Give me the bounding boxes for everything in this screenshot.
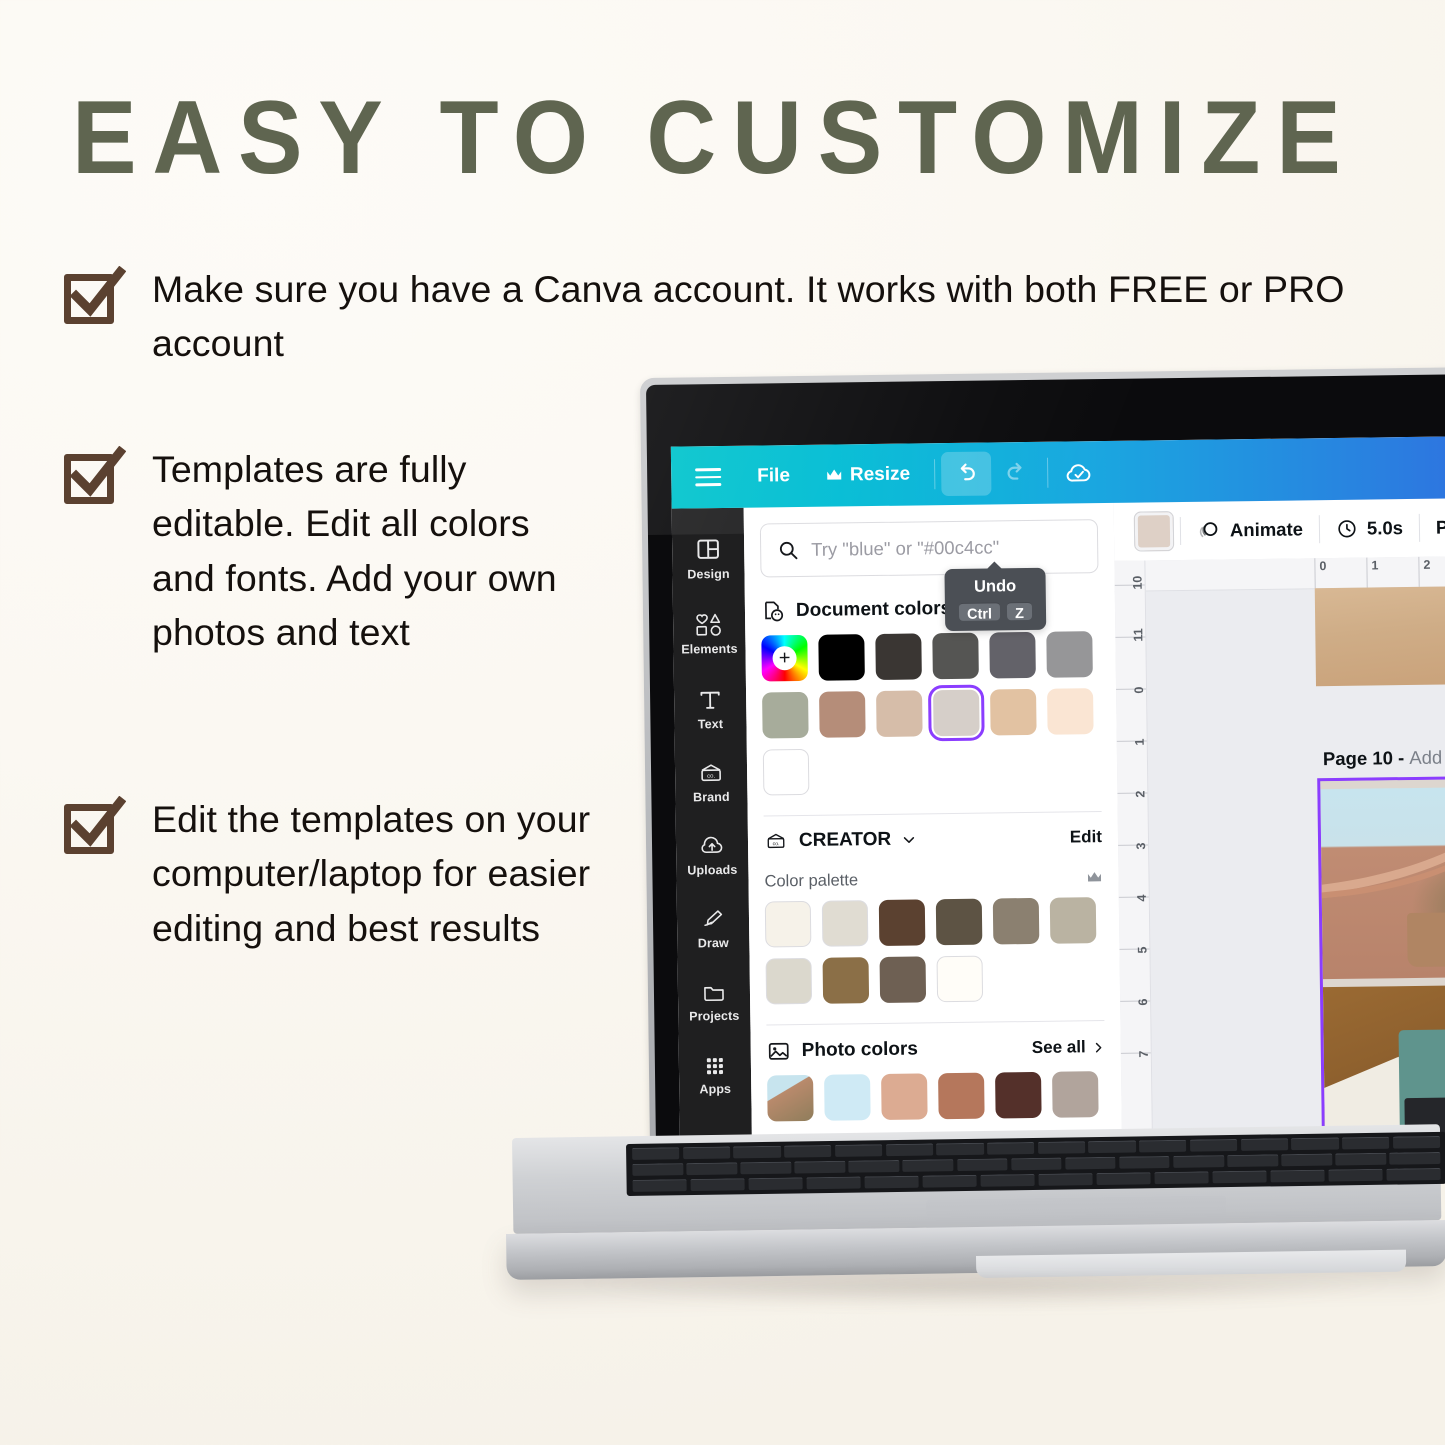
checkbox-checked-icon bbox=[64, 448, 126, 510]
ruler-tick: 3 bbox=[1118, 844, 1148, 846]
color-swatch[interactable] bbox=[1047, 688, 1094, 735]
grid-dots-icon bbox=[702, 1053, 728, 1077]
document-palette-icon bbox=[761, 599, 785, 623]
color-swatch[interactable] bbox=[881, 1073, 928, 1120]
image-icon bbox=[767, 1039, 791, 1063]
canvas-page[interactable] bbox=[1317, 775, 1445, 1139]
sidebar-item-brand[interactable]: co. Brand bbox=[675, 747, 748, 821]
document-colors-header: Document colors bbox=[745, 581, 1116, 634]
brand-kit-icon: co. bbox=[697, 761, 725, 785]
folder-icon bbox=[700, 980, 728, 1004]
svg-text:co.: co. bbox=[773, 841, 780, 847]
tooltip-key: Z bbox=[1007, 602, 1032, 620]
resize-button[interactable]: Resize bbox=[808, 452, 929, 498]
color-swatch[interactable] bbox=[875, 633, 922, 680]
color-swatch[interactable] bbox=[1046, 631, 1093, 678]
document-colors-title: Document colors bbox=[796, 598, 951, 622]
ruler-tick: 10 bbox=[1115, 584, 1145, 586]
clock-icon bbox=[1336, 518, 1358, 540]
color-swatch[interactable] bbox=[876, 690, 923, 737]
colors-panel: Try "blue" or "#00c4cc" Document colors … bbox=[744, 503, 1122, 1147]
ruler-tick: 2 bbox=[1117, 792, 1147, 794]
sidebar-item-design[interactable]: Design bbox=[672, 522, 745, 598]
photo-colors-title: Photo colors bbox=[802, 1038, 918, 1062]
color-swatch[interactable] bbox=[762, 692, 809, 739]
color-swatch[interactable] bbox=[765, 901, 812, 948]
position-label: Position bbox=[1436, 516, 1445, 539]
redo-arrow-icon bbox=[1003, 460, 1029, 486]
photo-hammock-plant[interactable] bbox=[1320, 786, 1445, 979]
sidebar-item-label: Elements bbox=[681, 642, 738, 657]
document-colors-swatches: + bbox=[745, 629, 1117, 802]
color-swatch[interactable] bbox=[990, 689, 1037, 736]
ruler-tick: 5 bbox=[1119, 948, 1149, 950]
color-swatch[interactable] bbox=[822, 900, 869, 947]
crown-icon bbox=[826, 468, 842, 482]
file-label: File bbox=[757, 454, 790, 498]
ruler-tick: 2 bbox=[1418, 557, 1430, 587]
duration-label: 5.0s bbox=[1367, 517, 1403, 539]
chevron-right-icon bbox=[1092, 1041, 1105, 1054]
color-swatch[interactable] bbox=[1052, 1071, 1099, 1118]
add-color-button[interactable]: + bbox=[761, 635, 808, 682]
canva-editor: File Resize bbox=[671, 430, 1445, 1148]
sidebar-item-apps[interactable]: Apps bbox=[679, 1039, 752, 1113]
brand-edit-button[interactable]: Edit bbox=[1070, 827, 1102, 847]
search-placeholder: Try "blue" or "#00c4cc" bbox=[811, 536, 999, 560]
page-title-placeholder: Add page title bbox=[1409, 746, 1445, 768]
photo-thumbnail[interactable] bbox=[767, 1075, 814, 1122]
plus-icon: + bbox=[772, 646, 796, 670]
file-menu-button[interactable]: File bbox=[739, 454, 808, 499]
color-swatch[interactable] bbox=[823, 957, 870, 1004]
color-palette-label-row: Color palette bbox=[748, 858, 1118, 900]
search-icon bbox=[777, 539, 799, 561]
color-swatch[interactable] bbox=[936, 899, 983, 946]
color-palette-label: Color palette bbox=[764, 871, 858, 891]
color-swatch[interactable] bbox=[932, 633, 979, 680]
canvas-toolbar: Animate 5.0s Position bbox=[1114, 492, 1445, 562]
brand-kit-icon: co. bbox=[764, 830, 788, 852]
laptop-lid: File Resize bbox=[640, 361, 1445, 1148]
ruler-tick: 1 bbox=[1366, 557, 1378, 587]
vertical-ruler[interactable]: 10 11 0 1 2 3 4 5 6 7 bbox=[1114, 560, 1153, 1141]
shapes-icon bbox=[694, 611, 724, 637]
canva-canvas-area: Animate 5.0s Position bbox=[1114, 492, 1445, 1142]
color-swatch-selected[interactable] bbox=[933, 690, 980, 737]
photo-colors-swatches bbox=[751, 1069, 1122, 1128]
color-swatch[interactable] bbox=[818, 634, 865, 681]
feature-bullet: Make sure you have a Canva account. It w… bbox=[64, 262, 1409, 371]
redo-button[interactable] bbox=[991, 451, 1042, 496]
page-separator: - bbox=[1398, 747, 1404, 768]
upload-cloud-icon bbox=[698, 834, 726, 858]
selected-color-button[interactable] bbox=[1134, 511, 1175, 552]
animate-icon bbox=[1197, 518, 1221, 542]
photo-typewriter[interactable] bbox=[1323, 984, 1445, 1139]
divider bbox=[1047, 458, 1048, 488]
sidebar-item-uploads[interactable]: Uploads bbox=[676, 820, 749, 894]
color-swatch[interactable] bbox=[937, 956, 984, 1003]
color-swatch[interactable] bbox=[938, 1073, 985, 1120]
ruler-tick: 1 bbox=[1117, 740, 1147, 742]
sidebar-item-projects[interactable]: Projects bbox=[678, 966, 751, 1040]
resize-label: Resize bbox=[850, 453, 911, 498]
position-button[interactable]: Position bbox=[1420, 515, 1445, 538]
pen-draw-icon bbox=[699, 907, 727, 931]
sidebar-item-label: Draw bbox=[698, 936, 729, 950]
photo-colors-header: Photo colors See all bbox=[750, 1021, 1121, 1074]
duration-button[interactable]: 5.0s bbox=[1320, 517, 1419, 540]
color-swatch[interactable] bbox=[824, 1074, 871, 1121]
color-swatch[interactable] bbox=[995, 1072, 1042, 1119]
color-swatch[interactable] bbox=[763, 749, 810, 796]
sidebar-item-label: Design bbox=[687, 567, 729, 582]
color-swatch[interactable] bbox=[880, 956, 927, 1003]
undo-arrow-icon bbox=[953, 461, 979, 487]
undo-button[interactable] bbox=[941, 451, 992, 496]
bullet-text: Make sure you have a Canva account. It w… bbox=[152, 262, 1402, 371]
animate-button[interactable]: Animate bbox=[1181, 517, 1319, 543]
brand-kit-header: co. CREATOR Edit bbox=[748, 812, 1119, 863]
color-swatch[interactable] bbox=[766, 958, 813, 1005]
sidebar-item-label: Brand bbox=[693, 790, 730, 804]
canva-topbar: File Resize bbox=[671, 430, 1445, 509]
ruler-tick: 7 bbox=[1121, 1052, 1151, 1054]
svg-text:co.: co. bbox=[707, 774, 715, 780]
tooltip-key: Ctrl bbox=[959, 602, 1000, 621]
sidebar-item-label: Text bbox=[698, 717, 723, 731]
divider bbox=[934, 459, 935, 489]
ruler-tick: 0 bbox=[1314, 558, 1326, 588]
sidebar-item-text[interactable]: Text bbox=[674, 672, 747, 748]
ruler-tick: 4 bbox=[1119, 896, 1149, 898]
sidebar-item-label: Uploads bbox=[687, 863, 737, 878]
page-title: EASY TO CUSTOMIZE bbox=[72, 86, 1309, 190]
sidebar-item-label: Apps bbox=[699, 1082, 731, 1096]
ruler-tick: 0 bbox=[1116, 688, 1146, 690]
sidebar-item-label: Projects bbox=[689, 1009, 739, 1024]
ruler-tick: 6 bbox=[1120, 1000, 1150, 1002]
previous-page-photo bbox=[1315, 585, 1445, 686]
ruler-tick: 11 bbox=[1115, 636, 1145, 638]
undo-tooltip: Undo Ctrl Z bbox=[944, 568, 1046, 631]
color-swatch[interactable] bbox=[989, 632, 1036, 679]
see-all-label: See all bbox=[1032, 1037, 1086, 1058]
laptop-shadow bbox=[506, 1280, 1445, 1320]
see-all-button[interactable]: See all bbox=[1032, 1037, 1105, 1058]
text-t-icon bbox=[697, 686, 723, 712]
animate-label: Animate bbox=[1230, 518, 1303, 541]
checkbox-checked-icon bbox=[64, 268, 126, 330]
checkbox-checked-icon bbox=[64, 798, 126, 860]
tooltip-title: Undo bbox=[974, 577, 1016, 597]
sidebar-item-elements[interactable]: Elements bbox=[673, 597, 746, 673]
brand-palette-swatches bbox=[749, 895, 1120, 1011]
cloud-save-button[interactable] bbox=[1054, 450, 1105, 495]
layout-panels-icon bbox=[695, 536, 721, 562]
brand-kit-title: CREATOR bbox=[799, 829, 891, 852]
page-number: Page 10 bbox=[1323, 747, 1393, 769]
canva-sidebar: Design Elements Text co. Brand bbox=[672, 508, 752, 1148]
cloud-check-icon bbox=[1065, 459, 1093, 485]
color-swatch[interactable] bbox=[819, 691, 866, 738]
crown-icon bbox=[1086, 871, 1102, 884]
color-swatch[interactable] bbox=[879, 899, 926, 946]
hamburger-icon[interactable] bbox=[677, 468, 739, 486]
laptop-mockup: File Resize bbox=[506, 378, 1445, 1288]
color-swatch[interactable] bbox=[993, 898, 1040, 945]
search-input[interactable]: Try "blue" or "#00c4cc" bbox=[760, 519, 1099, 577]
laptop-screen: File Resize bbox=[646, 368, 1445, 1148]
sidebar-item-draw[interactable]: Draw bbox=[677, 893, 750, 967]
page-label[interactable]: Page 10 - Add page title bbox=[1323, 746, 1445, 771]
color-swatch[interactable] bbox=[1050, 897, 1097, 944]
laptop-base bbox=[506, 1138, 1445, 1288]
chevron-down-icon[interactable] bbox=[902, 832, 916, 846]
